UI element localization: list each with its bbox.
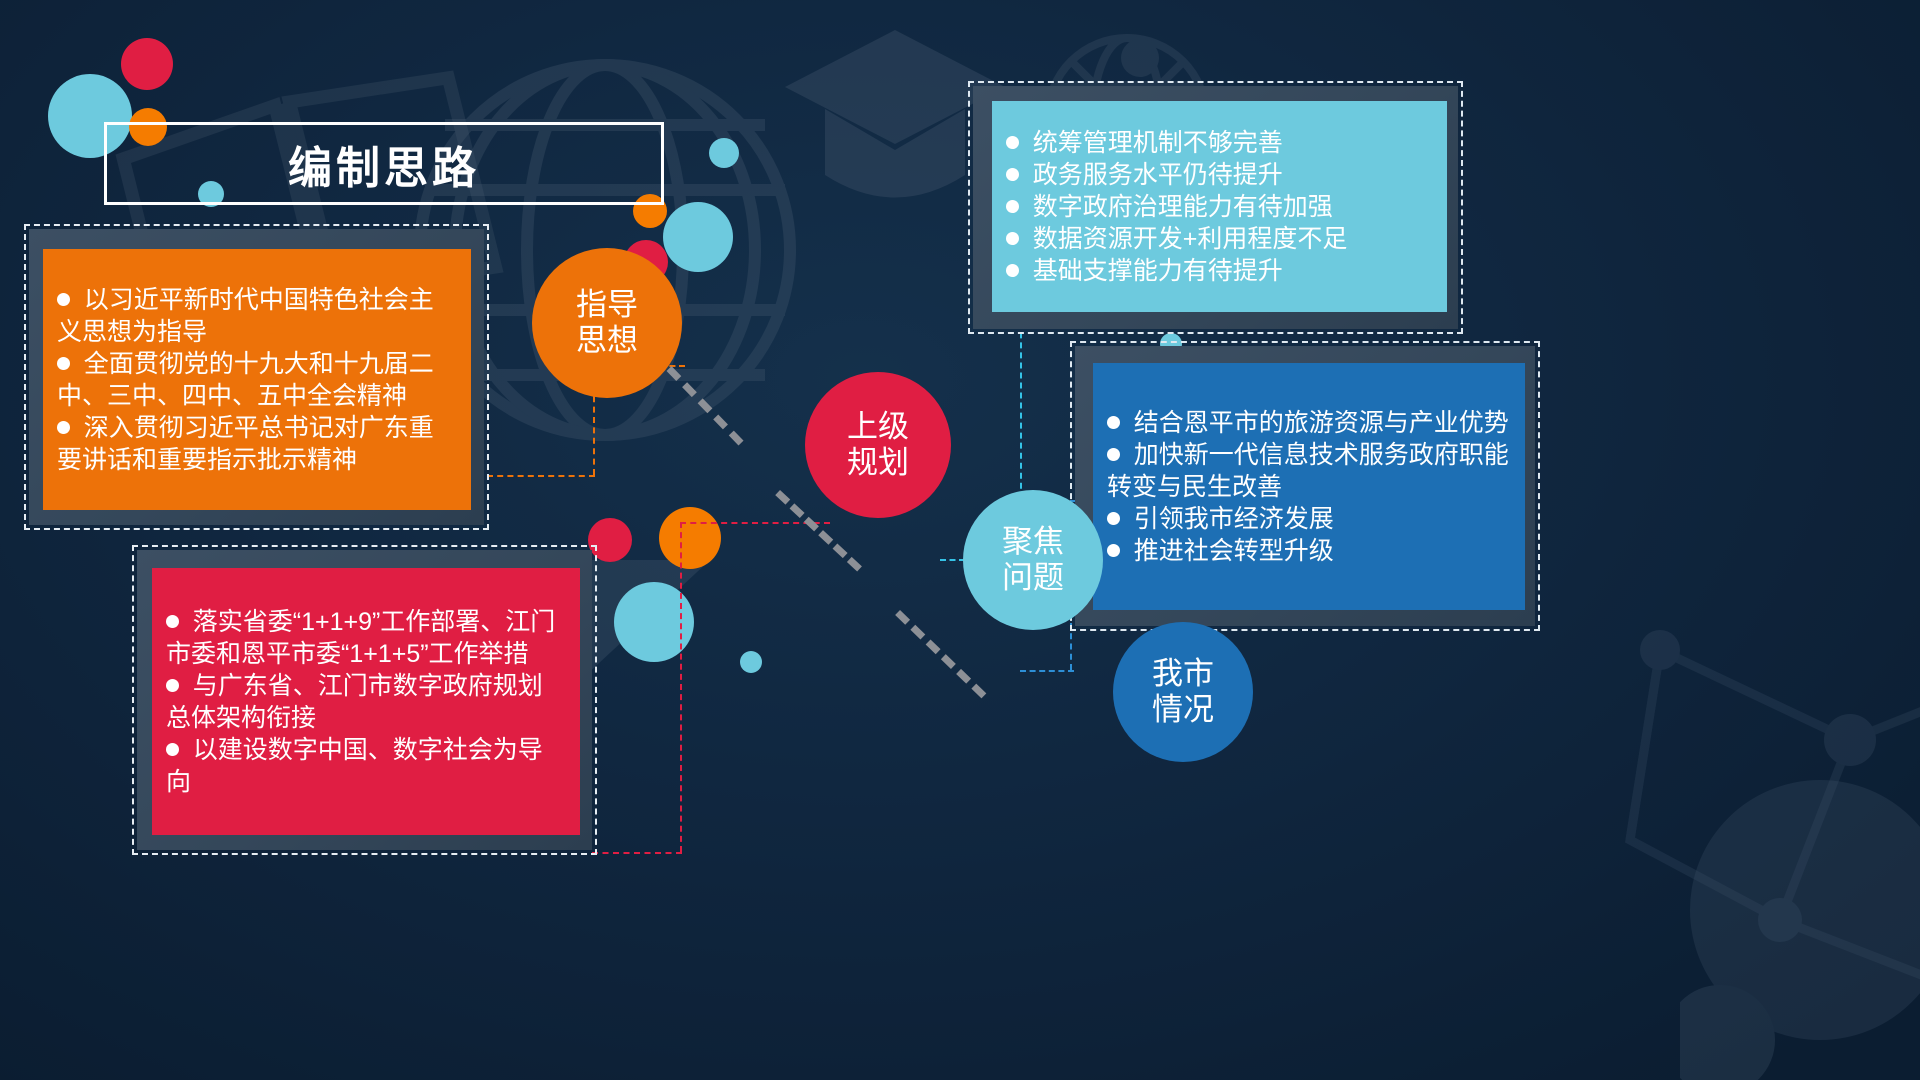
list-item: 与广东省、江门市数字政府规划总体架构衔接 [166,670,562,734]
list-item: 推进社会转型升级 [1107,535,1509,567]
node-guiding-thought[interactable]: 指导 思想 [532,248,682,398]
list-item: 基础支撑能力有待提升 [1006,255,1431,287]
list-item: 引领我市经济发展 [1107,503,1509,535]
bullet-icon [166,679,179,692]
list-item: 结合恩平市的旅游资源与产业优势 [1107,407,1509,439]
node-label-line1: 我市 [1152,656,1214,692]
node-label-line2: 规划 [847,445,909,481]
bullet-icon [1107,416,1120,429]
network-nodes-icon [1600,590,1920,1070]
bullet-icon [1006,168,1019,181]
focus-problem-list: 统筹管理机制不够完善 政务服务水平仍待提升 数字政府治理能力有待加强 数据资源开… [1006,127,1431,287]
page-title: 编制思路 [104,122,664,205]
decor-dot-red [121,38,173,90]
city-situation-list: 结合恩平市的旅游资源与产业优势 加快新一代信息技术服务政府职能转变与民生改善 引… [1107,407,1509,567]
bullet-icon [57,357,70,370]
list-item: 统筹管理机制不够完善 [1006,127,1431,159]
bullet-icon [1006,232,1019,245]
list-item: 数字政府治理能力有待加强 [1006,191,1431,223]
bullet-icon [1107,512,1120,525]
bullet-icon [1006,200,1019,213]
bullet-icon [1107,448,1120,461]
node-focus-problem[interactable]: 聚焦 问题 [963,490,1103,630]
node-label-line2: 思想 [576,323,638,359]
upper-plan-list: 落实省委“1+1+9”工作部署、江门市委和恩平市委“1+1+5”工作举措 与广东… [166,606,562,798]
slide-canvas: 编制思路 以习近平新时代中国特色社会主义思想为指导 全面贯彻党的十九大和十九届二… [0,0,1920,1080]
decor-dot-orange [659,507,721,569]
connector-blue-horizontal-bottom [1020,670,1074,672]
decor-dot-cyan [740,651,762,673]
connector-red-horizontal-bottom [592,852,682,854]
decor-dot-cyan [709,138,739,168]
list-item: 深入贯彻习近平总书记对广东重要讲话和重要指示批示精神 [57,412,453,476]
node-label-line2: 情况 [1152,692,1214,728]
node-upper-plan[interactable]: 上级 规划 [805,372,951,518]
bullet-icon [1107,544,1120,557]
connector-orange-horizontal-bottom [487,475,595,477]
list-item: 落实省委“1+1+9”工作部署、江门市委和恩平市委“1+1+5”工作举措 [166,606,562,670]
focus-problem-card[interactable]: 统筹管理机制不够完善 政务服务水平仍待提升 数字政府治理能力有待加强 数据资源开… [992,101,1447,312]
list-item: 以建设数字中国、数字社会为导向 [166,734,562,798]
guiding-thought-list: 以习近平新时代中国特色社会主义思想为指导 全面贯彻党的十九大和十九届二中、三中、… [57,284,453,476]
node-label-line1: 聚焦 [1002,524,1064,560]
list-item: 以习近平新时代中国特色社会主义思想为指导 [57,284,453,348]
upper-plan-card[interactable]: 落实省委“1+1+9”工作部署、江门市委和恩平市委“1+1+5”工作举措 与广东… [152,568,580,835]
city-situation-card[interactable]: 结合恩平市的旅游资源与产业优势 加快新一代信息技术服务政府职能转变与民生改善 引… [1093,363,1525,610]
list-item: 加快新一代信息技术服务政府职能转变与民生改善 [1107,439,1509,503]
triangle-decor-icon [1680,760,1920,1080]
bullet-icon [57,293,70,306]
list-item: 数据资源开发+利用程度不足 [1006,223,1431,255]
bullet-icon [166,615,179,628]
node-label-line1: 指导 [576,287,638,323]
node-city-situation[interactable]: 我市 情况 [1113,622,1253,762]
bullet-icon [166,743,179,756]
bullet-icon [1006,264,1019,277]
connector-red-vertical [680,522,682,852]
decor-dot-cyan [614,582,694,662]
list-item: 全面贯彻党的十九大和十九届二中、三中、四中、五中全会精神 [57,348,453,412]
connector-diagonal-3 [895,610,986,698]
bullet-icon [1006,136,1019,149]
decor-dot-cyan [663,202,733,272]
bullet-icon [57,421,70,434]
list-item: 政务服务水平仍待提升 [1006,159,1431,191]
node-label-line1: 上级 [847,409,909,445]
guiding-thought-card[interactable]: 以习近平新时代中国特色社会主义思想为指导 全面贯彻党的十九大和十九届二中、三中、… [43,249,471,510]
node-label-line2: 问题 [1002,560,1064,596]
